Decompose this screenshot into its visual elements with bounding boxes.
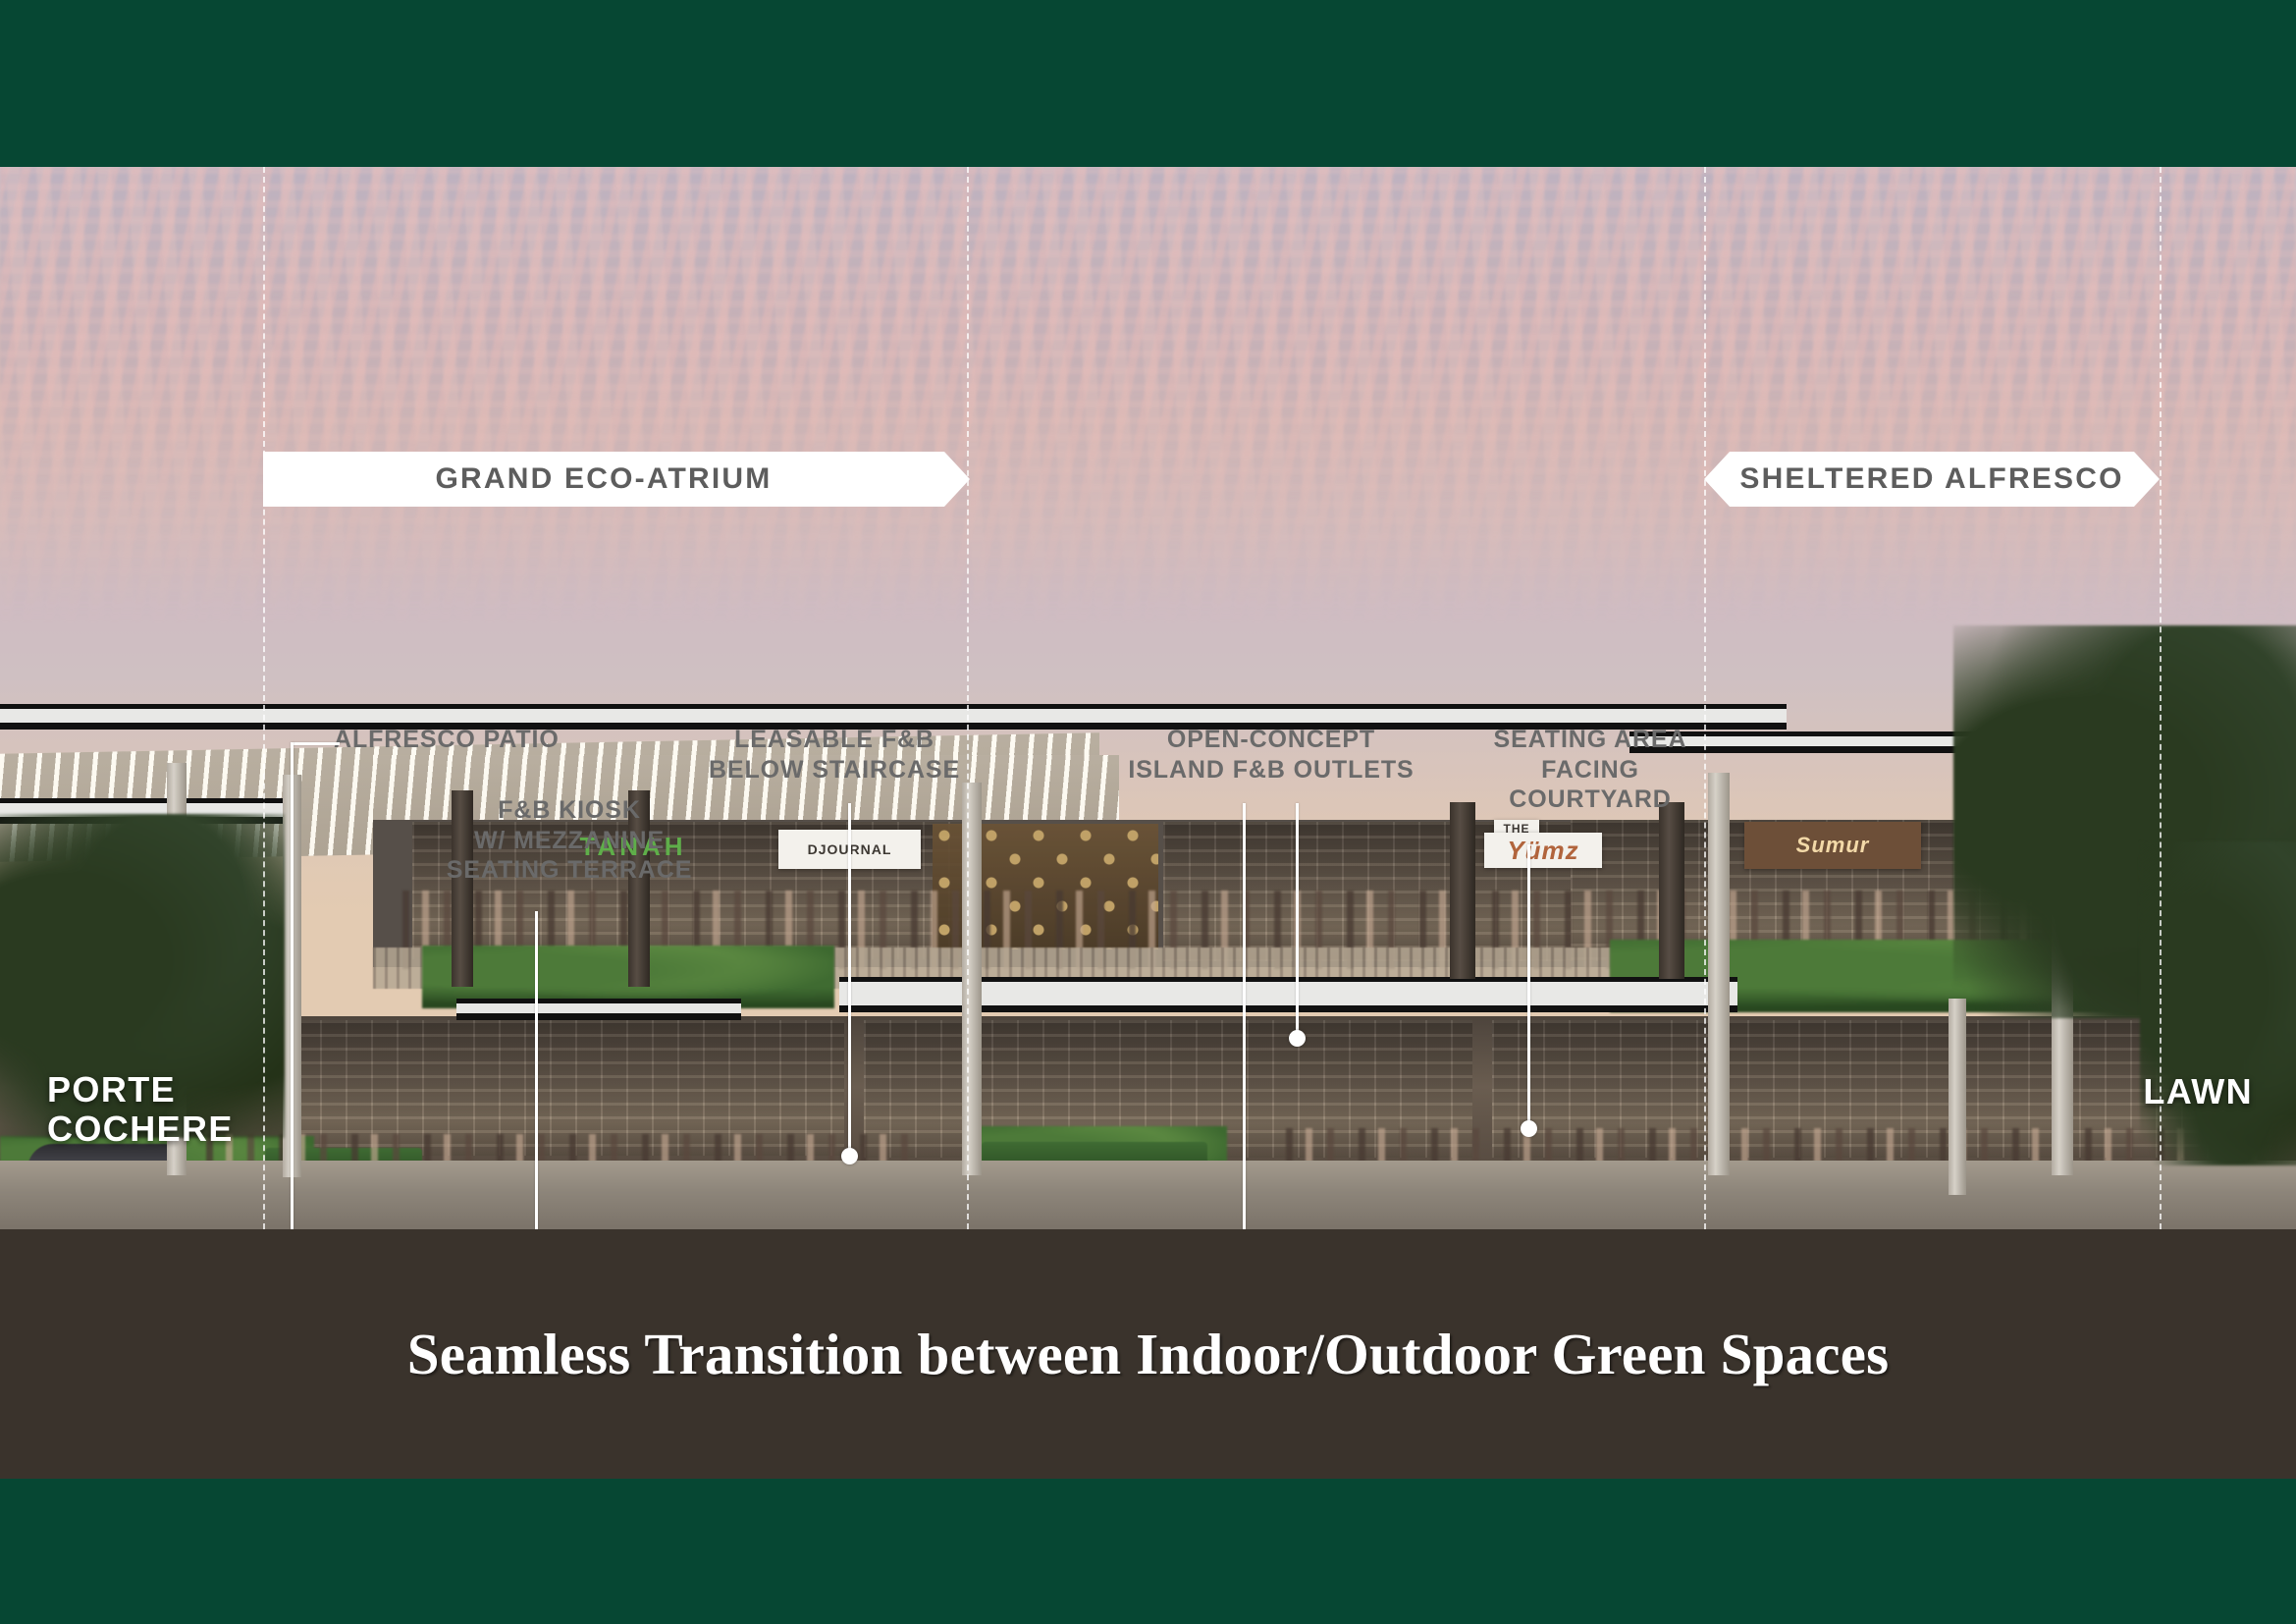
canopy-slab-lower-left [456, 999, 741, 1020]
banner-sheltered-alfresco[interactable]: SHELTERED ALFRESCO [1704, 452, 2160, 507]
column-7 [1659, 802, 1684, 979]
shop-sign-sumur: Sumur [1744, 822, 1921, 869]
leader-alfresco-patio-h [293, 742, 340, 745]
leader-dot-leasable-fnb [841, 1148, 858, 1164]
column-10 [1949, 999, 1966, 1195]
bottom-green-bar [0, 1479, 2296, 1624]
slide-canvas: TANAH DJOURNAL THE Yümz Sumur Monolog [0, 0, 2296, 1624]
leader-dot-island-a [1289, 1030, 1306, 1047]
leader-leasable-fnb [848, 803, 851, 1157]
callout-seating-area[interactable]: SEATING AREA FACING COURTYARD [1443, 725, 1737, 815]
caption-bar: Seamless Transition between Indoor/Outdo… [0, 1229, 2296, 1479]
callout-alfresco-patio[interactable]: ALFRESCO PATIO [334, 725, 628, 755]
banner-grand-eco-atrium[interactable]: GRAND ECO-ATRIUM [263, 452, 970, 507]
shop-sign-yumz: Yümz [1484, 833, 1602, 868]
column-6 [1450, 802, 1475, 979]
callout-leasable-fnb[interactable]: LEASABLE F&B BELOW STAIRCASE [677, 725, 991, 785]
sky-clouds [0, 167, 2296, 638]
leader-fnb-kiosk [535, 911, 538, 1229]
overlay-label-porte-cochere[interactable]: PORTE COCHERE [47, 1070, 234, 1150]
callout-fnb-kiosk[interactable]: F&B KIOSK W/ MEZZANINE SEATING TERRACE [393, 795, 746, 886]
zone-divider-far [2160, 167, 2162, 1229]
leader-island-b [1243, 803, 1246, 1229]
overlay-label-lawn[interactable]: LAWN [2143, 1072, 2253, 1111]
column-5 [962, 783, 982, 1175]
zone-divider-left [263, 167, 265, 1229]
caption-text: Seamless Transition between Indoor/Outdo… [407, 1321, 1890, 1388]
leader-alfresco-patio-v [291, 742, 294, 1229]
architectural-render: TANAH DJOURNAL THE Yümz Sumur Monolog [0, 167, 2296, 1229]
zone-divider-right [1704, 167, 1706, 1229]
leader-island-a [1296, 803, 1299, 1039]
leader-seating-area [1527, 844, 1530, 1129]
column-8 [1708, 773, 1730, 1175]
leader-dot-seating-area [1521, 1120, 1537, 1137]
top-green-bar [0, 0, 2296, 167]
tree-far-right [2140, 841, 2296, 1165]
zone-divider-mid [967, 167, 969, 1229]
callout-open-concept-island[interactable]: OPEN-CONCEPT ISLAND F&B OUTLETS [1104, 725, 1438, 785]
